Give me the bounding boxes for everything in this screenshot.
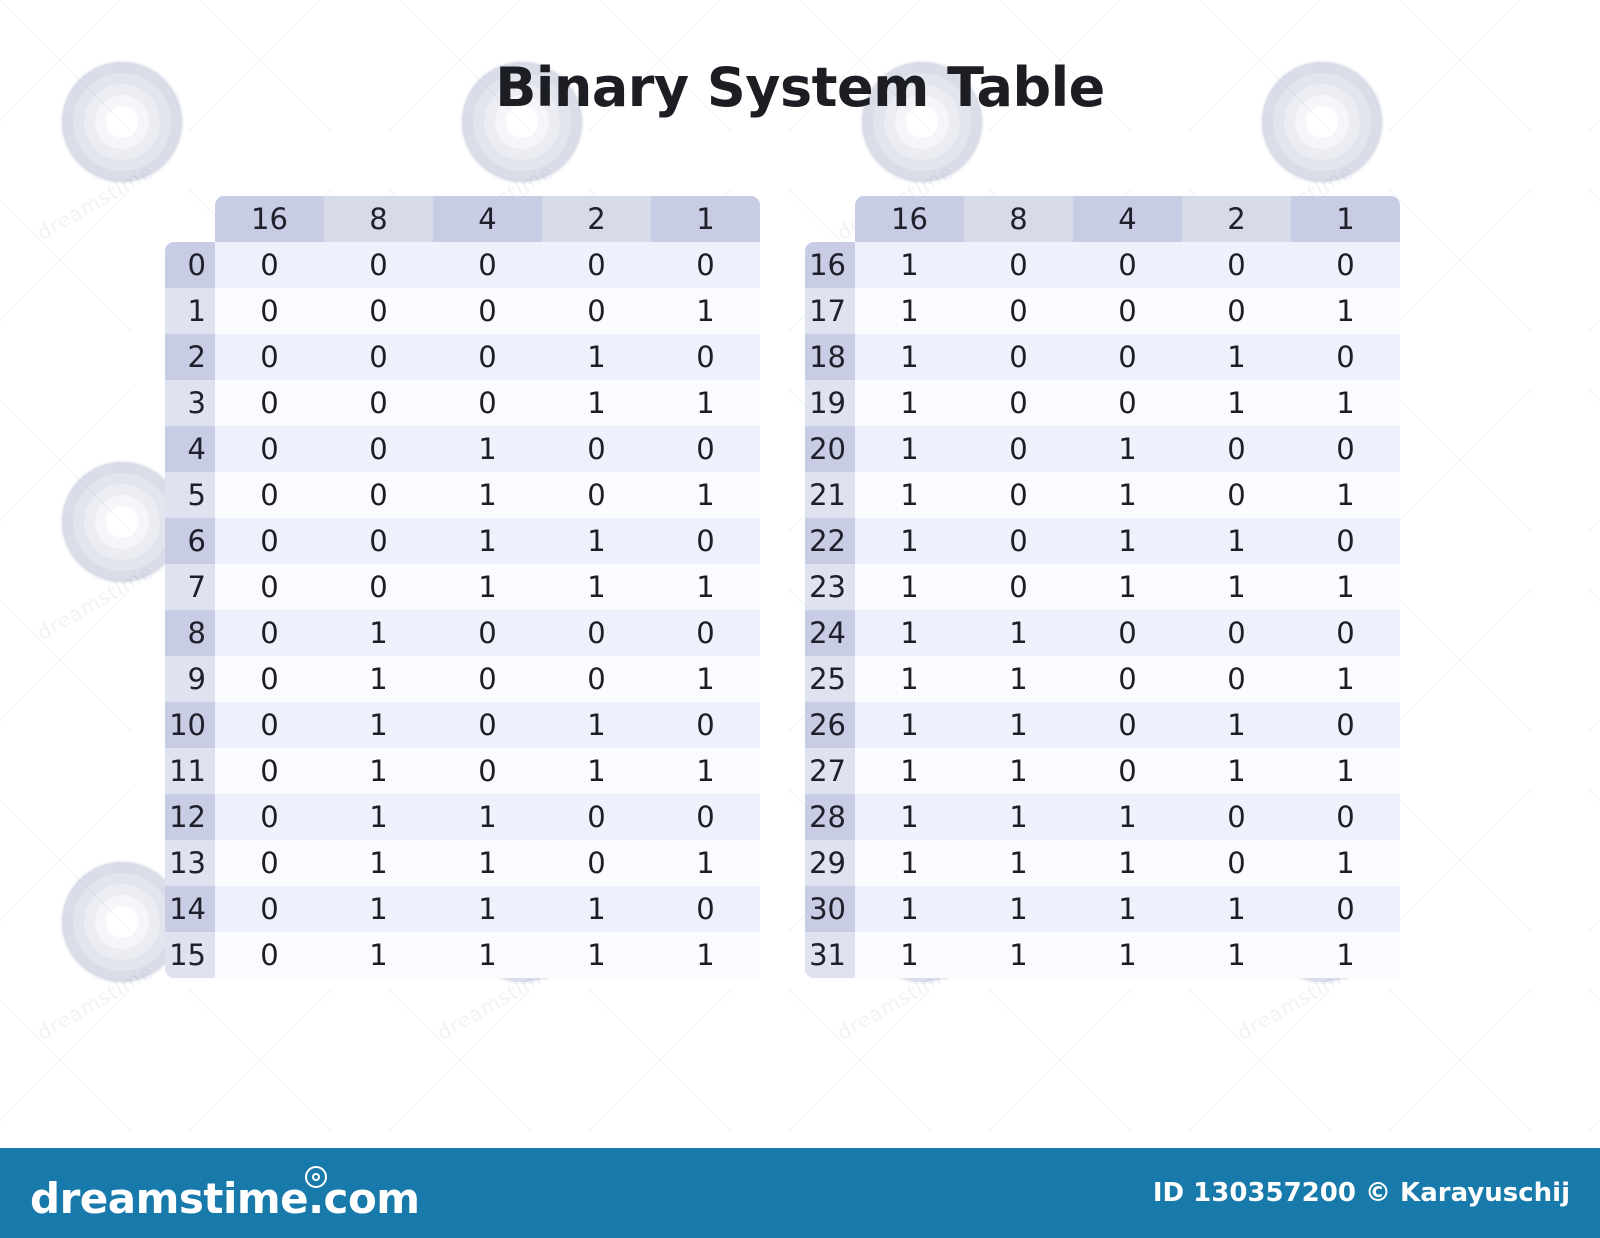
table-row: 000000 (165, 242, 760, 288)
row-label-5: 5 (165, 472, 215, 518)
bit-cell: 0 (964, 242, 1073, 288)
dreamstime-footer-bar: dreamstime.com ID 130357200 © Karayuschi… (0, 1148, 1600, 1238)
bit-cell: 1 (855, 564, 964, 610)
bit-cell: 1 (433, 426, 542, 472)
watermark-text: dreamstime (33, 959, 158, 1045)
bit-cell: 0 (215, 472, 324, 518)
watermark-cross (1560, 760, 1600, 960)
bit-cell: 1 (324, 840, 433, 886)
row-label-18: 18 (805, 334, 855, 380)
bit-cell: 1 (542, 380, 651, 426)
column-header-8: 8 (964, 196, 1073, 242)
bit-cell: 1 (324, 886, 433, 932)
bit-cell: 0 (964, 472, 1073, 518)
bit-cell: 0 (1073, 748, 1182, 794)
bit-cell: 1 (1073, 518, 1182, 564)
binary-table-right: 168421 161000017100011810010191001120101… (805, 196, 1400, 978)
bit-cell: 0 (1182, 288, 1291, 334)
bit-cell: 0 (1291, 610, 1400, 656)
row-cells: 11110 (855, 886, 1400, 932)
bit-cell: 0 (651, 426, 760, 472)
bit-cell: 0 (1182, 794, 1291, 840)
row-cells: 10000 (855, 242, 1400, 288)
bit-cell: 1 (855, 380, 964, 426)
row-label-2: 2 (165, 334, 215, 380)
dreamstime-logo[interactable]: dreamstime.com (30, 1174, 420, 1223)
watermark-cross (0, 560, 160, 760)
bit-cell: 1 (433, 794, 542, 840)
bit-cell: 0 (215, 426, 324, 472)
bit-cell: 0 (215, 794, 324, 840)
bit-cell: 0 (651, 886, 760, 932)
bit-cell: 0 (651, 334, 760, 380)
bit-cell: 1 (651, 748, 760, 794)
bit-cell: 0 (1073, 334, 1182, 380)
row-label-26: 26 (805, 702, 855, 748)
bit-cell: 0 (324, 426, 433, 472)
bit-cell: 1 (855, 610, 964, 656)
bit-cell: 0 (433, 702, 542, 748)
bit-cell: 1 (433, 472, 542, 518)
bit-cell: 0 (1291, 334, 1400, 380)
row-cells: 10101 (855, 472, 1400, 518)
row-label-22: 22 (805, 518, 855, 564)
table-header-row: 168421 (855, 196, 1400, 242)
row-label-14: 14 (165, 886, 215, 932)
bit-cell: 0 (215, 380, 324, 426)
bit-cell: 0 (1073, 380, 1182, 426)
column-header-4: 4 (433, 196, 542, 242)
bit-cell: 0 (215, 518, 324, 564)
bit-cell: 0 (324, 288, 433, 334)
bit-cell: 1 (855, 426, 964, 472)
bit-cell: 1 (1073, 932, 1182, 978)
table-body: 1610000171000118100101910011201010021101… (805, 242, 1400, 978)
bit-cell: 0 (215, 564, 324, 610)
table-row: 801000 (165, 610, 760, 656)
column-header-2: 2 (1182, 196, 1291, 242)
bit-cell: 0 (964, 564, 1073, 610)
row-label-25: 25 (805, 656, 855, 702)
row-cells: 00010 (215, 334, 760, 380)
bit-cell: 1 (855, 472, 964, 518)
bit-cell: 0 (324, 380, 433, 426)
row-label-27: 27 (805, 748, 855, 794)
page-title: Binary System Table (0, 56, 1600, 119)
row-label-1: 1 (165, 288, 215, 334)
row-label-13: 13 (165, 840, 215, 886)
bit-cell: 1 (651, 656, 760, 702)
row-label-12: 12 (165, 794, 215, 840)
bit-cell: 1 (324, 656, 433, 702)
table-row: 2611010 (805, 702, 1400, 748)
bit-cell: 1 (1291, 656, 1400, 702)
bit-cell: 0 (1182, 426, 1291, 472)
row-label-21: 21 (805, 472, 855, 518)
bit-cell: 0 (964, 334, 1073, 380)
bit-cell: 0 (651, 242, 760, 288)
watermark-cross (360, 960, 560, 1160)
watermark-cross (1560, 960, 1600, 1160)
bit-cell: 1 (433, 932, 542, 978)
table-row: 3011110 (805, 886, 1400, 932)
bit-cell: 0 (964, 380, 1073, 426)
bit-cell: 0 (542, 242, 651, 288)
row-cells: 10010 (855, 334, 1400, 380)
bit-cell: 1 (855, 748, 964, 794)
row-cells: 11111 (855, 932, 1400, 978)
bit-cell: 1 (324, 748, 433, 794)
watermark-cross (1560, 560, 1600, 760)
watermark-cross (760, 960, 960, 1160)
row-label-4: 4 (165, 426, 215, 472)
row-label-30: 30 (805, 886, 855, 932)
row-label-17: 17 (805, 288, 855, 334)
bit-cell: 1 (1073, 840, 1182, 886)
watermark-cross (160, 960, 360, 1160)
table-row: 901001 (165, 656, 760, 702)
bit-cell: 1 (1291, 840, 1400, 886)
row-cells: 11001 (855, 656, 1400, 702)
table-row: 1101011 (165, 748, 760, 794)
bit-cell: 1 (1182, 886, 1291, 932)
spiral-registered-icon (305, 1166, 327, 1188)
bit-cell: 0 (433, 288, 542, 334)
bit-cell: 0 (324, 242, 433, 288)
column-header-1: 1 (651, 196, 760, 242)
row-cells: 00000 (215, 242, 760, 288)
table-row: 100001 (165, 288, 760, 334)
bit-cell: 0 (1182, 610, 1291, 656)
table-row: 2411000 (805, 610, 1400, 656)
bit-cell: 0 (651, 794, 760, 840)
table-row: 1301101 (165, 840, 760, 886)
bit-cell: 1 (964, 702, 1073, 748)
bit-cell: 0 (964, 426, 1073, 472)
watermark-text: dreamstime (33, 559, 158, 645)
row-cells: 11000 (855, 610, 1400, 656)
watermark-cross (0, 960, 160, 1160)
row-cells: 00110 (215, 518, 760, 564)
bit-cell: 1 (855, 656, 964, 702)
bit-cell: 1 (855, 840, 964, 886)
bit-cell: 1 (1182, 518, 1291, 564)
bit-cell: 0 (324, 334, 433, 380)
bit-cell: 1 (651, 288, 760, 334)
watermark-cross (0, 760, 160, 960)
column-header-4: 4 (1073, 196, 1182, 242)
table-row: 400100 (165, 426, 760, 472)
bit-cell: 1 (964, 840, 1073, 886)
row-label-15: 15 (165, 932, 215, 978)
bit-cell: 0 (1291, 886, 1400, 932)
bit-cell: 0 (324, 472, 433, 518)
table-row: 700111 (165, 564, 760, 610)
column-header-1: 1 (1291, 196, 1400, 242)
row-cells: 01001 (215, 656, 760, 702)
bit-cell: 0 (324, 564, 433, 610)
row-label-8: 8 (165, 610, 215, 656)
bit-cell: 0 (964, 288, 1073, 334)
row-cells: 11101 (855, 840, 1400, 886)
watermark-cross (960, 960, 1160, 1160)
bit-cell: 1 (651, 380, 760, 426)
bit-cell: 1 (1291, 748, 1400, 794)
table-row: 2711011 (805, 748, 1400, 794)
row-label-28: 28 (805, 794, 855, 840)
bit-cell: 0 (1073, 702, 1182, 748)
bit-cell: 1 (1182, 380, 1291, 426)
bit-cell: 0 (215, 242, 324, 288)
table-row: 2310111 (805, 564, 1400, 610)
bit-cell: 0 (542, 426, 651, 472)
bit-cell: 1 (324, 702, 433, 748)
bit-cell: 1 (1073, 886, 1182, 932)
bit-cell: 0 (215, 334, 324, 380)
table-row: 2010100 (805, 426, 1400, 472)
bit-cell: 1 (964, 656, 1073, 702)
bit-cell: 1 (1182, 564, 1291, 610)
bit-cell: 1 (1291, 288, 1400, 334)
table-row: 1201100 (165, 794, 760, 840)
column-header-16: 16 (215, 196, 324, 242)
bit-cell: 0 (433, 610, 542, 656)
bit-cell: 1 (855, 288, 964, 334)
table-row: 500101 (165, 472, 760, 518)
row-cells: 00011 (215, 380, 760, 426)
table-row: 1001010 (165, 702, 760, 748)
bit-cell: 1 (1182, 932, 1291, 978)
watermark-cross (560, 960, 760, 1160)
row-cells: 10110 (855, 518, 1400, 564)
watermark-cross (1560, 360, 1600, 560)
watermark-cross (0, 160, 160, 360)
bit-cell: 1 (542, 518, 651, 564)
bit-cell: 1 (1073, 564, 1182, 610)
bit-cell: 1 (324, 794, 433, 840)
bit-cell: 0 (215, 610, 324, 656)
bit-cell: 1 (542, 702, 651, 748)
table-row: 1401110 (165, 886, 760, 932)
bit-cell: 1 (433, 518, 542, 564)
bit-cell: 0 (433, 748, 542, 794)
bit-cell: 0 (1182, 840, 1291, 886)
row-cells: 00001 (215, 288, 760, 334)
bit-cell: 1 (1291, 564, 1400, 610)
bit-cell: 0 (215, 840, 324, 886)
bit-cell: 0 (1182, 472, 1291, 518)
bit-cell: 0 (1182, 242, 1291, 288)
row-cells: 00100 (215, 426, 760, 472)
bit-cell: 1 (542, 748, 651, 794)
bit-cell: 0 (542, 472, 651, 518)
row-cells: 10011 (855, 380, 1400, 426)
row-cells: 10100 (855, 426, 1400, 472)
row-cells: 11010 (855, 702, 1400, 748)
bit-cell: 1 (542, 886, 651, 932)
table-grid: 168421 161000017100011810010191001120101… (805, 196, 1400, 978)
row-label-9: 9 (165, 656, 215, 702)
bit-cell: 0 (1291, 702, 1400, 748)
bit-cell: 0 (215, 702, 324, 748)
bit-cell: 1 (1291, 932, 1400, 978)
row-cells: 01101 (215, 840, 760, 886)
bit-cell: 0 (1073, 610, 1182, 656)
bit-cell: 1 (433, 886, 542, 932)
bit-cell: 0 (651, 610, 760, 656)
bit-cell: 0 (651, 518, 760, 564)
bit-cell: 0 (542, 794, 651, 840)
bit-cell: 1 (1073, 794, 1182, 840)
bit-cell: 1 (1073, 472, 1182, 518)
bit-cell: 1 (651, 932, 760, 978)
bit-cell: 1 (1182, 748, 1291, 794)
table-row: 2110101 (805, 472, 1400, 518)
watermark-cross (1560, 160, 1600, 360)
bit-cell: 1 (1182, 702, 1291, 748)
bit-cell: 1 (855, 886, 964, 932)
table-body: 0000001000012000103000114001005001016001… (165, 242, 760, 978)
bit-cell: 1 (433, 564, 542, 610)
bit-cell: 1 (542, 564, 651, 610)
bit-cell: 1 (651, 840, 760, 886)
row-cells: 10001 (855, 288, 1400, 334)
bit-cell: 0 (433, 334, 542, 380)
bit-cell: 1 (542, 334, 651, 380)
bit-cell: 0 (433, 656, 542, 702)
row-label-10: 10 (165, 702, 215, 748)
table-row: 2511001 (805, 656, 1400, 702)
bit-cell: 1 (964, 748, 1073, 794)
row-cells: 01000 (215, 610, 760, 656)
row-label-23: 23 (805, 564, 855, 610)
bit-cell: 0 (324, 518, 433, 564)
row-label-11: 11 (165, 748, 215, 794)
bit-cell: 0 (651, 702, 760, 748)
bit-cell: 1 (324, 610, 433, 656)
row-label-7: 7 (165, 564, 215, 610)
bit-cell: 1 (651, 564, 760, 610)
row-label-16: 16 (805, 242, 855, 288)
row-cells: 01111 (215, 932, 760, 978)
row-label-20: 20 (805, 426, 855, 472)
bit-cell: 0 (215, 748, 324, 794)
row-cells: 00111 (215, 564, 760, 610)
bit-cell: 0 (1073, 656, 1182, 702)
table-row: 1710001 (805, 288, 1400, 334)
bit-cell: 1 (1182, 334, 1291, 380)
bit-cell: 0 (1182, 656, 1291, 702)
bit-cell: 0 (1291, 426, 1400, 472)
table-grid: 168421 000000100001200010300011400100500… (165, 196, 760, 978)
bit-cell: 1 (964, 794, 1073, 840)
watermark-cross (0, 360, 160, 560)
bit-cell: 1 (542, 932, 651, 978)
column-header-16: 16 (855, 196, 964, 242)
bit-cell: 0 (1291, 242, 1400, 288)
bit-cell: 0 (542, 656, 651, 702)
table-header-row: 168421 (215, 196, 760, 242)
bit-cell: 0 (215, 932, 324, 978)
row-label-3: 3 (165, 380, 215, 426)
bit-cell: 1 (651, 472, 760, 518)
column-header-2: 2 (542, 196, 651, 242)
image-id-credit: ID 130357200 © Karayuschij (1153, 1178, 1570, 1208)
bit-cell: 0 (964, 518, 1073, 564)
table-row: 3111111 (805, 932, 1400, 978)
table-row: 2811100 (805, 794, 1400, 840)
bit-cell: 1 (855, 702, 964, 748)
row-cells: 10111 (855, 564, 1400, 610)
bit-cell: 0 (1073, 288, 1182, 334)
bit-cell: 1 (855, 794, 964, 840)
row-label-24: 24 (805, 610, 855, 656)
row-cells: 01100 (215, 794, 760, 840)
watermark-cross (1360, 960, 1560, 1160)
table-row: 1910011 (805, 380, 1400, 426)
table-row: 1501111 (165, 932, 760, 978)
bit-cell: 1 (1291, 472, 1400, 518)
bit-cell: 0 (542, 610, 651, 656)
column-header-8: 8 (324, 196, 433, 242)
watermark-text: dreamstime (33, 159, 158, 245)
bit-cell: 1 (964, 886, 1073, 932)
bit-cell: 0 (433, 380, 542, 426)
bit-cell: 1 (855, 242, 964, 288)
row-label-0: 0 (165, 242, 215, 288)
bit-cell: 0 (215, 656, 324, 702)
table-row: 300011 (165, 380, 760, 426)
row-label-29: 29 (805, 840, 855, 886)
bit-cell: 1 (433, 840, 542, 886)
row-label-19: 19 (805, 380, 855, 426)
bit-cell: 1 (855, 334, 964, 380)
table-row: 2911101 (805, 840, 1400, 886)
bit-cell: 1 (964, 610, 1073, 656)
bit-cell: 1 (964, 932, 1073, 978)
bit-cell: 0 (215, 886, 324, 932)
bit-cell: 1 (1291, 380, 1400, 426)
row-cells: 11011 (855, 748, 1400, 794)
table-row: 2210110 (805, 518, 1400, 564)
row-label-31: 31 (805, 932, 855, 978)
binary-table-left: 168421 000000100001200010300011400100500… (165, 196, 760, 978)
bit-cell: 1 (855, 932, 964, 978)
row-cells: 01110 (215, 886, 760, 932)
bit-cell: 0 (1291, 794, 1400, 840)
bit-cell: 1 (324, 932, 433, 978)
table-row: 1610000 (805, 242, 1400, 288)
table-row: 600110 (165, 518, 760, 564)
table-row: 200010 (165, 334, 760, 380)
watermark-cross (1160, 960, 1360, 1160)
bit-cell: 0 (1073, 242, 1182, 288)
row-cells: 01010 (215, 702, 760, 748)
bit-cell: 1 (1073, 426, 1182, 472)
row-cells: 01011 (215, 748, 760, 794)
bit-cell: 0 (433, 242, 542, 288)
bit-cell: 0 (542, 288, 651, 334)
bit-cell: 0 (1291, 518, 1400, 564)
table-row: 1810010 (805, 334, 1400, 380)
bit-cell: 1 (855, 518, 964, 564)
row-cells: 11100 (855, 794, 1400, 840)
row-cells: 00101 (215, 472, 760, 518)
bit-cell: 0 (215, 288, 324, 334)
bit-cell: 0 (542, 840, 651, 886)
row-label-6: 6 (165, 518, 215, 564)
